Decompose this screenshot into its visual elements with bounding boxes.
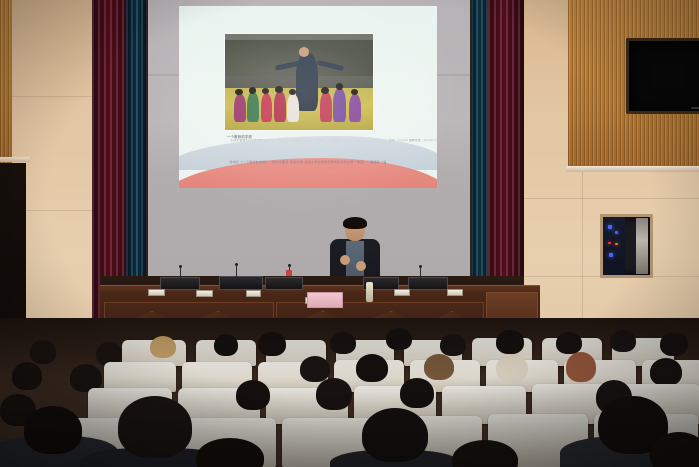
nameplate — [148, 289, 165, 296]
laptop[interactable] — [265, 277, 303, 290]
wall-monitor[interactable] — [626, 38, 699, 114]
audience-head — [316, 378, 352, 410]
audience-head — [362, 408, 428, 462]
audience-head — [566, 352, 596, 382]
slide-photograph — [225, 34, 373, 130]
photo-child — [287, 94, 299, 123]
right-ledge — [566, 166, 699, 172]
photo-child-head — [249, 87, 256, 94]
photo-child-head — [336, 83, 343, 90]
booth-led-blue-1 — [608, 225, 612, 229]
audience-head — [496, 354, 528, 382]
water-bottle[interactable] — [366, 282, 373, 302]
audience-head-cap — [150, 336, 176, 358]
control-booth-window — [600, 214, 653, 278]
booth-door-pane — [636, 218, 648, 274]
photo-child — [234, 94, 246, 123]
photo-child — [274, 91, 286, 123]
microphone-head — [235, 263, 238, 266]
presenter-hair — [343, 217, 367, 229]
booth-led-red-2 — [615, 243, 618, 245]
left-ledge — [0, 157, 30, 162]
audience-head — [496, 330, 524, 354]
audience-head — [300, 356, 330, 382]
booth-glass — [603, 217, 625, 275]
audience-area — [0, 318, 699, 467]
audience-head — [386, 328, 412, 350]
audience-head — [214, 334, 238, 356]
audience-head — [440, 334, 466, 356]
red-cup[interactable] — [286, 270, 292, 276]
nameplate — [394, 289, 410, 296]
laptop[interactable] — [160, 277, 200, 290]
audience-head — [24, 406, 82, 454]
microphone-stem — [236, 266, 237, 277]
microphone-head — [288, 264, 291, 267]
booth-led-blue-3 — [609, 253, 613, 257]
projected-slide: 一个教师的学校 纪录片讲述大山深处的教学点，讲一位教师坚守多年的真实故事。 他坚… — [179, 6, 437, 188]
audience-head — [650, 358, 682, 386]
audience-head — [330, 332, 356, 354]
booth-led-blue-2 — [615, 231, 618, 234]
audience-head — [118, 396, 192, 458]
monitor-brand-mark — [691, 107, 699, 109]
audience-head — [660, 332, 688, 356]
photo-child — [247, 92, 259, 123]
audience-head — [610, 330, 636, 352]
audience-head — [400, 378, 434, 408]
booth-led-red-1 — [608, 242, 611, 244]
photo-child-head — [321, 87, 328, 94]
photo-teacher — [296, 53, 318, 111]
microphone-stem — [180, 268, 181, 278]
nameplate — [246, 290, 261, 297]
slide-caption: 微电影《一个教师的学校》（"我的中国梦·最美中国"全国大学生微电影暨电影创作大赛… — [179, 159, 437, 164]
nameplate — [447, 289, 463, 296]
audience-head — [424, 354, 454, 380]
auditorium-photo: 一个教师的学校 纪录片讲述大山深处的教学点，讲一位教师坚守多年的真实故事。 他坚… — [0, 0, 699, 467]
microphone-head — [179, 265, 182, 268]
microphone-stem — [420, 268, 421, 278]
audience-head — [236, 380, 270, 410]
presenter-hand-right — [356, 261, 366, 271]
photo-child — [261, 93, 273, 123]
audience-head — [30, 340, 56, 364]
audience-head — [12, 362, 42, 390]
presenter-hand-left — [340, 255, 350, 265]
photo-child-head — [275, 86, 282, 93]
projection-screen: 一个教师的学校 纪录片讲述大山深处的教学点，讲一位教师坚守多年的真实故事。 他坚… — [148, 0, 470, 290]
audience-head — [556, 332, 582, 354]
audience-head — [356, 354, 388, 382]
laptop[interactable] — [408, 277, 448, 290]
microphone-head — [419, 265, 422, 268]
pink-box[interactable] — [307, 292, 343, 308]
nameplate — [196, 290, 213, 297]
photo-child — [349, 94, 361, 123]
laptop[interactable] — [219, 276, 263, 290]
audience-head — [258, 332, 286, 356]
photo-child — [333, 88, 346, 123]
photo-child — [320, 92, 332, 123]
